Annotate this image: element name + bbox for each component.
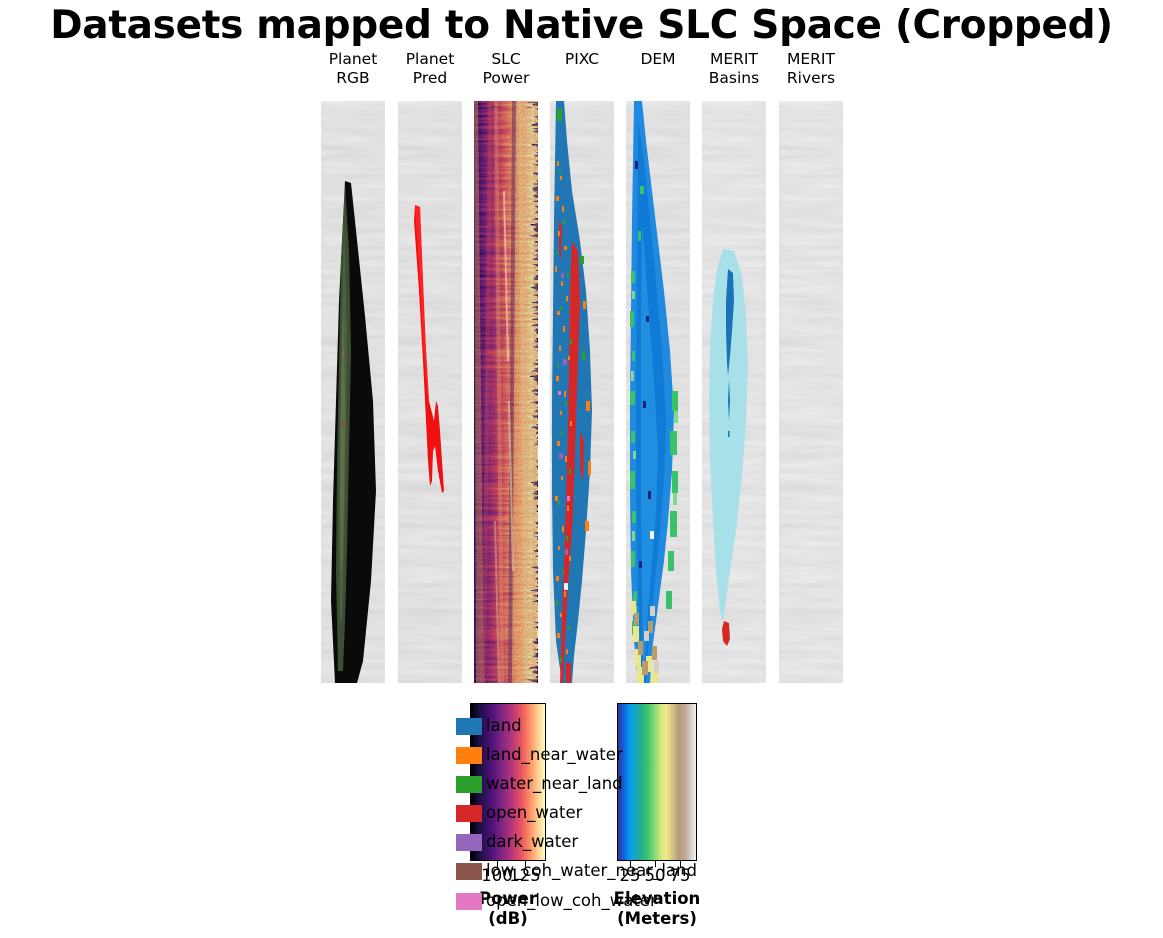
- dem-elevation-overlay: [626, 101, 690, 683]
- panel-planet-pred[interactable]: [398, 101, 462, 683]
- panel-title-merit-rivers: MERIT Rivers: [769, 50, 853, 88]
- panel-pixc[interactable]: [550, 101, 614, 683]
- panel-grid: Planet RGB Planet Pred SLC Power: [0, 0, 1163, 700]
- legend-swatch-land: [456, 718, 482, 735]
- legend-item-dark-water[interactable]: dark_water: [456, 830, 746, 859]
- legend-swatch-dark-water: [456, 834, 482, 851]
- legend-swatch-open-water: [456, 805, 482, 822]
- panel-title-pixc: PIXC: [540, 50, 624, 69]
- panel-merit-rivers[interactable]: [779, 101, 843, 683]
- legend-swatch-land-near-water: [456, 747, 482, 764]
- class-legend: land land_near_water water_near_land ope…: [456, 714, 746, 918]
- planet-pred-overlay: [398, 101, 462, 683]
- legend-label-open-low-coh-water: open_low_coh_water: [486, 887, 657, 915]
- panel-title-planet-pred: Planet Pred: [388, 50, 472, 88]
- legend-item-low-coh-water-near-land[interactable]: low_coh_water_near_land: [456, 859, 746, 888]
- planet-rgb-overlay: [321, 101, 385, 683]
- panel-slc-power[interactable]: [474, 101, 538, 683]
- legend-swatch-open-low-coh-water: [456, 893, 482, 910]
- legend-swatch-low-coh-water-near-land: [456, 863, 482, 880]
- legend-swatch-water-near-land: [456, 776, 482, 793]
- panel-title-slc-power: SLC Power: [464, 50, 548, 88]
- legend-item-open-low-coh-water[interactable]: open_low_coh_water: [456, 889, 746, 918]
- panel-dem[interactable]: [626, 101, 690, 683]
- panel-title-planet-rgb: Planet RGB: [311, 50, 395, 88]
- panel-title-merit-basins: MERIT Basins: [692, 50, 776, 88]
- legend-label-water-near-land: water_near_land: [486, 770, 623, 798]
- legend-label-low-coh-water-near-land: low_coh_water_near_land: [486, 857, 697, 885]
- pixc-classification-overlay: [550, 101, 614, 683]
- legend-label-open-water: open_water: [486, 799, 582, 827]
- legend-item-land-near-water[interactable]: land_near_water: [456, 743, 746, 772]
- legend-label-dark-water: dark_water: [486, 828, 578, 856]
- panel-merit-basins[interactable]: [702, 101, 766, 683]
- panel-planet-rgb[interactable]: [321, 101, 385, 683]
- legend-item-land[interactable]: land: [456, 714, 746, 743]
- merit-basins-overlay: [702, 101, 766, 683]
- slc-power-image: [474, 101, 538, 683]
- legend-item-water-near-land[interactable]: water_near_land: [456, 772, 746, 801]
- sar-backdrop: [779, 101, 843, 683]
- panel-title-dem: DEM: [616, 50, 700, 69]
- legend-label-land-near-water: land_near_water: [486, 741, 623, 769]
- legend-label-land: land: [486, 712, 522, 740]
- legend-item-open-water[interactable]: open_water: [456, 801, 746, 830]
